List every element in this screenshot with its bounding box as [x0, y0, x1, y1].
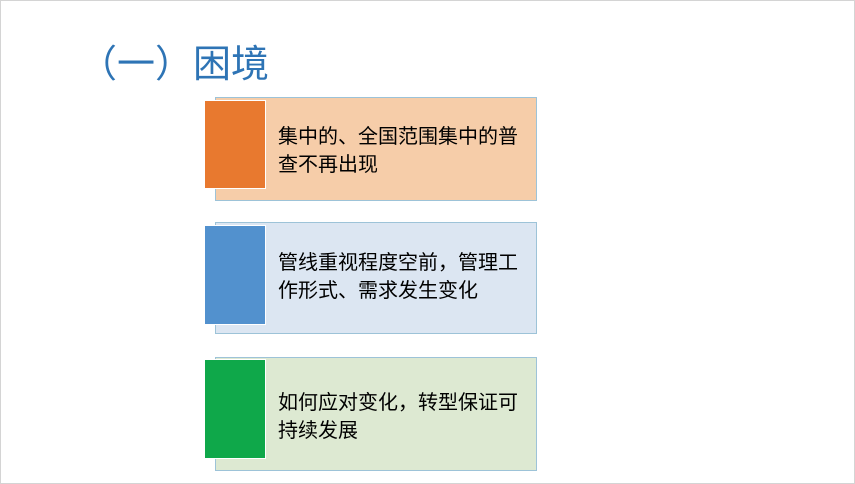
callout-accent-block-3 — [204, 359, 266, 459]
callout-text-2: 管线重视程度空前，管理工作形式、需求发生变化 — [278, 249, 530, 305]
callout-accent-block-2 — [204, 225, 266, 325]
page-title: （一）困境 — [79, 41, 269, 89]
callout-text-3: 如何应对变化，转型保证可持续发展 — [278, 389, 530, 445]
callout-text-1: 集中的、全国范围集中的普查不再出现 — [278, 123, 530, 179]
presentation-slide: （一）困境 集中的、全国范围集中的普查不再出现 管线重视程度空前，管理工作形式、… — [0, 0, 855, 484]
callout-accent-block-1 — [204, 100, 266, 189]
